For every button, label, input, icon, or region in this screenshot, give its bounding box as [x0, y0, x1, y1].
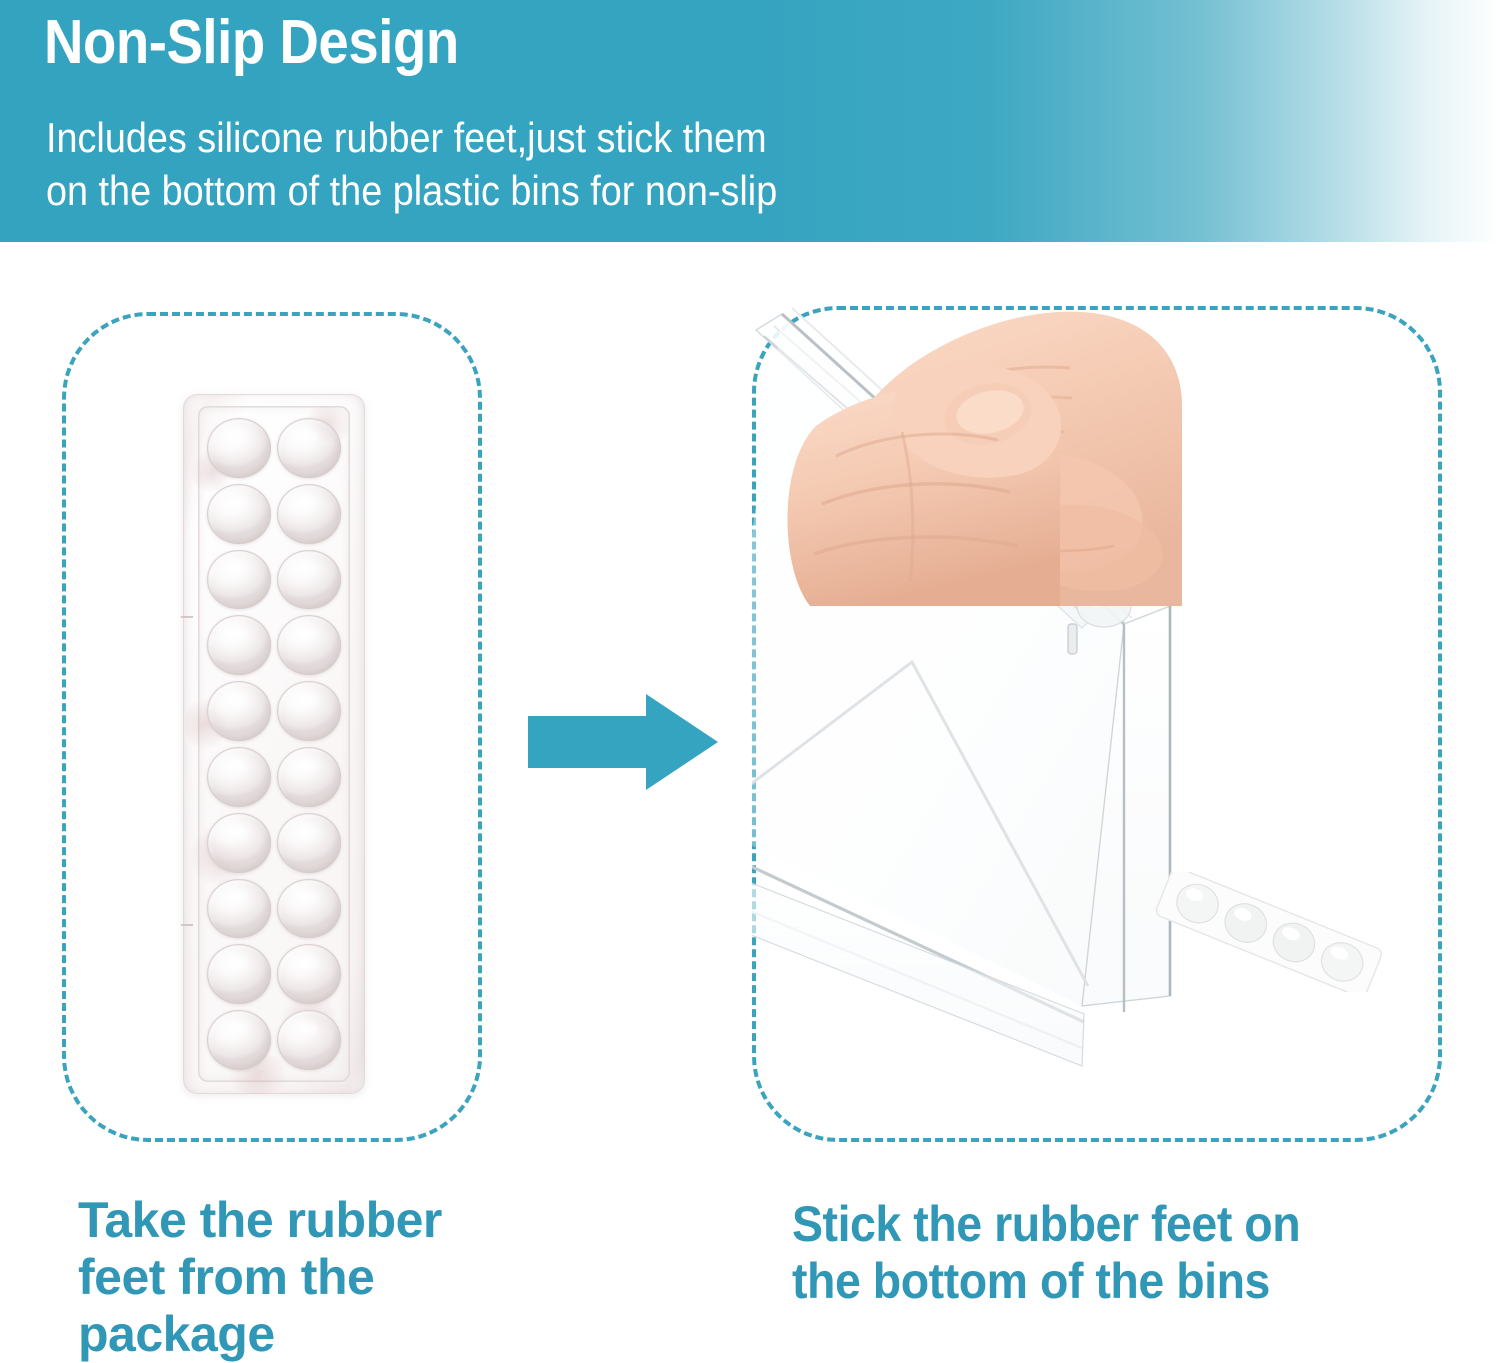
step-1-caption: Take the rubber feet from the package	[78, 1192, 518, 1363]
rubber-foot	[207, 484, 271, 544]
rubber-foot	[207, 813, 271, 873]
rubber-feet-grid	[205, 416, 343, 1072]
rubber-foot	[207, 418, 271, 478]
rubber-foot	[207, 1010, 271, 1070]
header-subtitle-line-1: Includes silicone rubber feet,just stick…	[46, 112, 777, 165]
rubber-foot	[277, 813, 341, 873]
rubber-foot	[277, 550, 341, 610]
hand-holding-feet-strip	[752, 306, 1062, 606]
rubber-foot	[277, 879, 341, 939]
step-1-caption-line-3: package	[78, 1306, 518, 1363]
step-2-artwork	[752, 306, 1442, 1142]
header-subtitle-line-2: on the bottom of the plastic bins for no…	[46, 165, 777, 218]
rubber-foot	[277, 484, 341, 544]
page-title: Non-Slip Design	[44, 10, 459, 77]
step-1-caption-line-2: feet from the	[78, 1249, 518, 1306]
blister-strip-seam	[181, 924, 193, 926]
rubber-foot	[207, 879, 271, 939]
rubber-foot	[207, 944, 271, 1004]
blister-strip-seam	[181, 616, 193, 618]
rubber-foot	[207, 550, 271, 610]
header-banner: Non-Slip Design Includes silicone rubber…	[0, 0, 1500, 242]
step-2-caption-line-2: the bottom of the bins	[792, 1253, 1397, 1310]
step-1-caption-line-1: Take the rubber	[78, 1192, 518, 1249]
rubber-foot	[277, 681, 341, 741]
rubber-foot	[277, 418, 341, 478]
rubber-foot	[277, 747, 341, 807]
held-rubber-feet-strip	[1148, 872, 1388, 992]
rubber-foot	[277, 615, 341, 675]
rubber-foot	[277, 1010, 341, 1070]
flow-arrow-icon	[528, 694, 718, 790]
rubber-foot	[207, 681, 271, 741]
rubber-foot	[277, 944, 341, 1004]
rubber-feet-blister-strip	[183, 394, 365, 1094]
header-subtitle: Includes silicone rubber feet,just stick…	[46, 112, 777, 217]
rubber-foot	[207, 747, 271, 807]
rubber-foot	[207, 615, 271, 675]
step-2-caption: Stick the rubber feet on the bottom of t…	[792, 1196, 1397, 1310]
step-2-caption-line-1: Stick the rubber feet on	[792, 1196, 1397, 1253]
